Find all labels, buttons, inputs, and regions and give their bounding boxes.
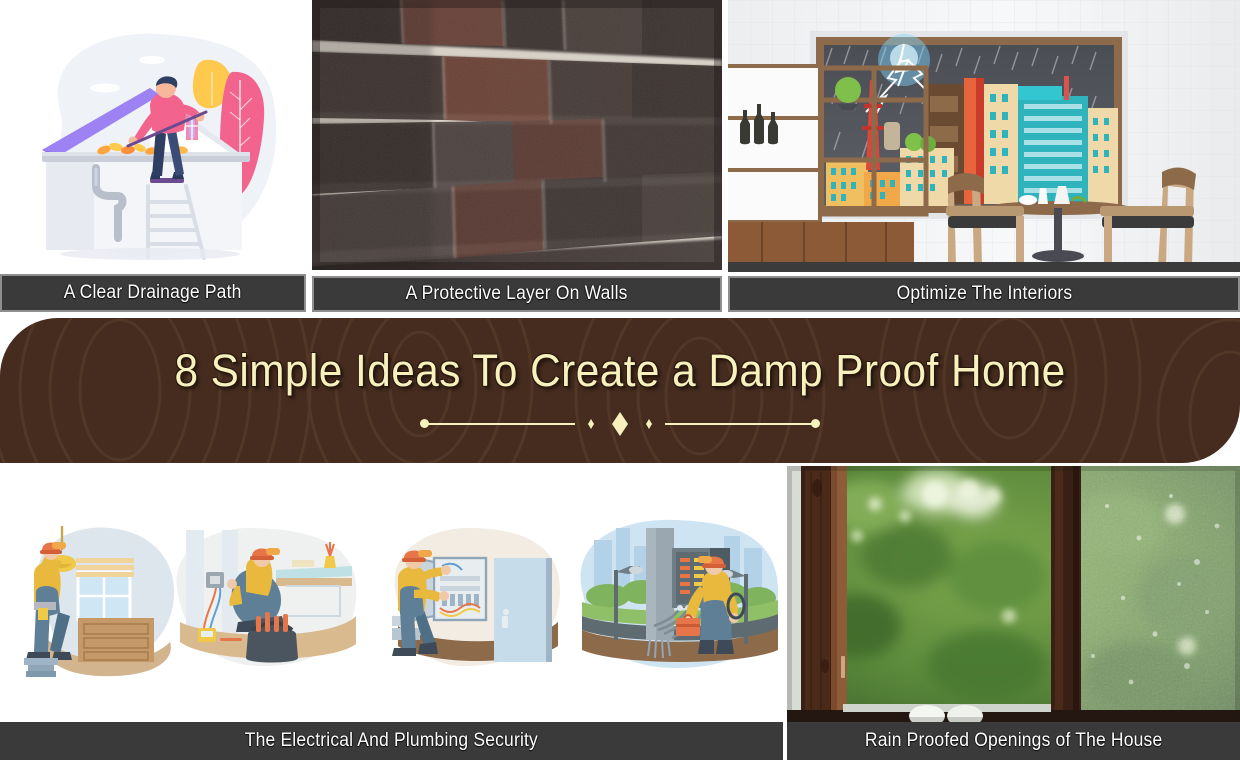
infographic-page: A Clear Drainage Path [0,0,1240,760]
electrician-and-plumber-scenes-illustration [0,466,783,722]
bottom-panel-electrical [0,466,783,722]
divider-line-right [665,423,813,425]
scene-electrician-at-fuse-box-panel [392,528,560,666]
caption-bar-interiors: Optimize The Interiors [728,276,1240,312]
divider-dot-right [811,419,820,428]
dining-room-window-storm-city-view-illustration [728,0,1240,272]
caption-bar-drainage: A Clear Drainage Path [0,274,306,312]
caption-text-interiors: Optimize The Interiors [896,283,1072,305]
sparkle-diamond-icon [576,411,664,437]
caption-text-walls: A Protective Layer On Walls [406,283,628,305]
dark-brick-wall-closeup-photo [312,0,722,270]
caption-text-electrical: The Electrical And Plumbing Security [245,730,538,752]
title-banner: 8 Simple Ideas To Create a Damp Proof Ho… [0,318,1240,463]
rainy-wooden-window-green-foliage-photo [787,466,1240,722]
caption-bar-openings: Rain Proofed Openings of The House [787,722,1240,760]
scene-electrician-at-outdoor-utility-cabinet [581,520,778,668]
caption-bar-electrical: The Electrical And Plumbing Security [0,722,783,760]
divider-ornament [420,411,820,437]
top-panel-walls [312,0,722,270]
scene-electrician-installing-ceiling-lamp [24,526,174,677]
banner-title-text: 8 Simple Ideas To Create a Damp Proof Ho… [174,345,1065,397]
top-panel-drainage [0,0,306,272]
scene-electrician-wiring-wall-socket [177,528,357,666]
man-on-ladder-cleaning-roof-gutter-illustration [0,0,306,272]
caption-text-drainage: A Clear Drainage Path [64,282,242,304]
caption-bar-walls: A Protective Layer On Walls [312,276,722,312]
top-panel-interiors [728,0,1240,272]
caption-text-openings: Rain Proofed Openings of The House [865,730,1162,752]
bottom-panel-openings [787,466,1240,722]
divider-line-left [427,423,575,425]
